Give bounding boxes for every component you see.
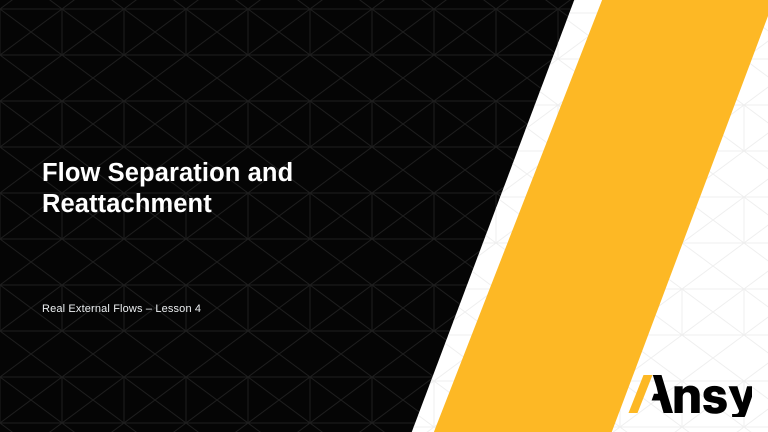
ansys-wordmark (652, 375, 752, 417)
ansys-a-slash-icon (629, 375, 653, 413)
ansys-logo (628, 371, 752, 417)
slide-subtitle: Real External Flows – Lesson 4 (42, 303, 201, 315)
page-title: Flow Separation and Reattachment (42, 158, 462, 220)
slide-root: Flow Separation and Reattachment Real Ex… (0, 0, 768, 432)
